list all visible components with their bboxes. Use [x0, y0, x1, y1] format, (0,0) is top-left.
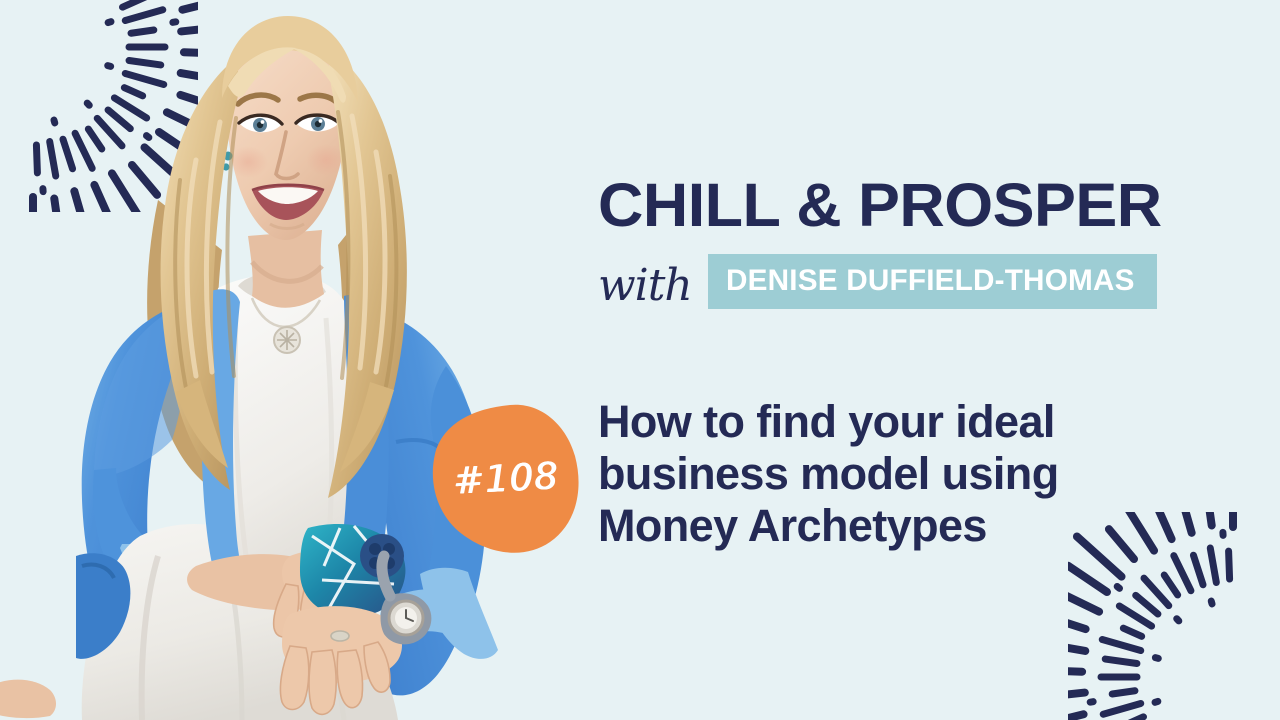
- episode-number-label: #108: [428, 398, 584, 558]
- podcast-cover-art: #108 CHILL & PROSPER with DENISE DUFFIEL…: [0, 0, 1280, 720]
- episode-title-line-3: Money Archetypes: [598, 500, 1198, 552]
- host-portrait-photo: [0, 0, 550, 720]
- host-name-label: DENISE DUFFIELD-THOMAS: [726, 266, 1135, 296]
- show-title: CHILL & PROSPER: [598, 175, 1162, 236]
- episode-title-line-2: business model using: [598, 448, 1198, 500]
- byline: with DENISE DUFFIELD-THOMAS: [598, 254, 1157, 309]
- episode-title-line-1: How to find your ideal: [598, 396, 1198, 448]
- host-name-box: DENISE DUFFIELD-THOMAS: [708, 254, 1157, 309]
- byline-with-label: with: [598, 264, 708, 308]
- episode-title: How to find your ideal business model us…: [598, 396, 1198, 553]
